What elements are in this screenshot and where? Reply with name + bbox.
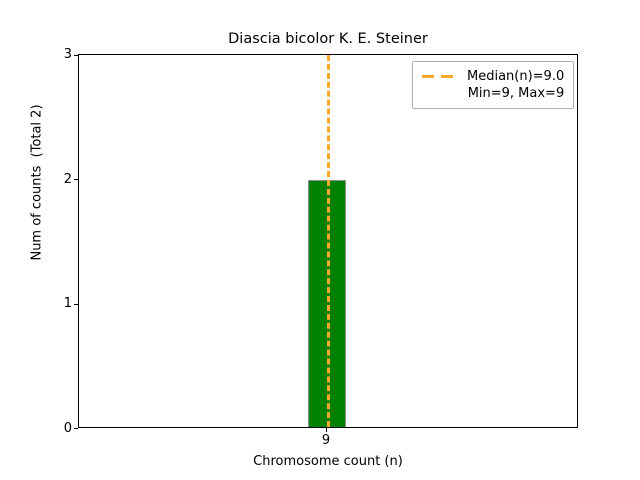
- ytick-mark-1: [74, 304, 78, 305]
- y-axis-label: Num of counts (Total 2): [30, 0, 45, 370]
- chart-title: Diascia bicolor K. E. Steiner: [78, 30, 578, 48]
- x-axis-label: Chromosome count (n): [78, 454, 578, 469]
- chart-figure: Diascia bicolor K. E. Steiner 0 1 2 3 Nu…: [0, 0, 640, 480]
- ytick-mark-0: [74, 428, 78, 429]
- legend-entry-minmax: Min=9, Max=9: [421, 85, 564, 102]
- ytick-label-0: 0: [12, 422, 72, 435]
- median-line: [327, 55, 330, 427]
- ytick-mark-2: [74, 179, 78, 180]
- legend-entry-median: Median(n)=9.0: [421, 68, 564, 85]
- legend-label-median: Median(n)=9.0: [467, 68, 564, 85]
- xtick-label-9: 9: [296, 434, 356, 448]
- dashed-line-icon: [421, 71, 457, 83]
- legend: Median(n)=9.0 Min=9, Max=9: [412, 61, 574, 109]
- plot-area: [78, 54, 578, 428]
- ytick-mark-3: [74, 55, 78, 56]
- legend-label-minmax: Min=9, Max=9: [421, 85, 564, 102]
- xtick-mark-9: [326, 428, 327, 432]
